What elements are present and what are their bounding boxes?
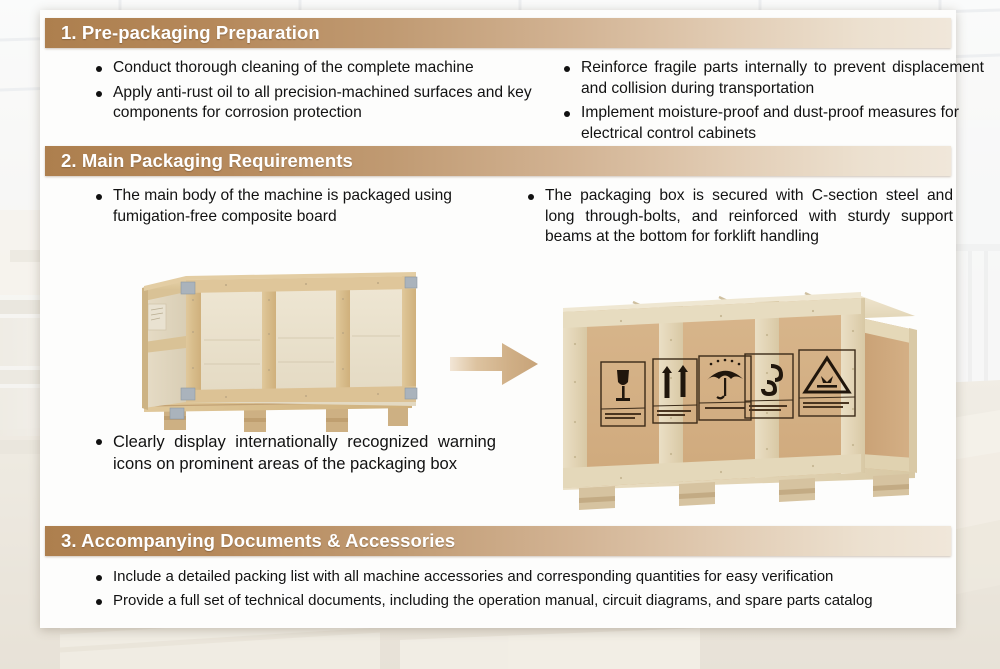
bullet-list-section2-left: The main body of the machine is packaged… [96, 186, 496, 231]
list-item: Provide a full set of technical document… [96, 591, 966, 611]
section-title: 3. Accompanying Documents & Accessories [45, 530, 455, 552]
section-title: 1. Pre-packaging Preparation [45, 22, 320, 44]
arrow-shape [448, 338, 540, 390]
bullet-list-section2-left-lower: Clearly display internationally recogniz… [96, 431, 496, 479]
list-item: The packaging box is secured with C-sect… [528, 186, 953, 248]
section-title: 2. Main Packaging Requirements [45, 150, 353, 172]
bullet-text: Conduct thorough cleaning of the complet… [113, 58, 474, 79]
bullet-text: Apply anti-rust oil to all precision-mac… [113, 83, 548, 124]
list-item: Implement moisture-proof and dust-proof … [564, 103, 984, 144]
list-item: Conduct thorough cleaning of the complet… [96, 58, 548, 79]
list-item: Include a detailed packing list with all… [96, 567, 966, 587]
image-crate-with-warning-labels [543, 282, 925, 522]
section-header-accompanying-documents: 3. Accompanying Documents & Accessories [45, 526, 951, 556]
bullet-dot-icon [564, 66, 570, 72]
section-header-pre-packaging: 1. Pre-packaging Preparation [45, 18, 951, 48]
bullet-text: Provide a full set of technical document… [113, 591, 873, 611]
bullet-list-section2-right: The packaging box is secured with C-sect… [528, 186, 953, 252]
bullet-text: The main body of the machine is packaged… [113, 186, 496, 227]
list-item: Reinforce fragile parts internally to pr… [564, 58, 984, 99]
bullet-text: Include a detailed packing list with all… [113, 567, 833, 587]
bullet-dot-icon [96, 439, 102, 445]
bullet-dot-icon [96, 599, 102, 605]
bullet-text: Reinforce fragile parts internally to pr… [581, 58, 984, 99]
list-item: Apply anti-rust oil to all precision-mac… [96, 83, 548, 124]
content-panel: 1. Pre-packaging Preparation Conduct tho… [40, 10, 956, 628]
image-plain-wooden-crate [126, 256, 420, 438]
plain-crate-illustration [126, 256, 420, 438]
list-item: The main body of the machine is packaged… [96, 186, 496, 227]
bullet-text: The packaging box is secured with C-sect… [545, 186, 953, 248]
bullet-dot-icon [96, 66, 102, 72]
bullet-list-section1-right: Reinforce fragile parts internally to pr… [564, 58, 984, 148]
bullet-dot-icon [96, 575, 102, 581]
bullet-dot-icon [96, 194, 102, 200]
section-header-main-packaging: 2. Main Packaging Requirements [45, 146, 951, 176]
bullet-text: Implement moisture-proof and dust-proof … [581, 103, 984, 144]
bullet-dot-icon [564, 111, 570, 117]
bullet-dot-icon [528, 194, 534, 200]
bullet-list-section3: Include a detailed packing list with all… [96, 567, 966, 615]
bullet-list-section1-left: Conduct thorough cleaning of the complet… [96, 58, 548, 128]
right-arrow-icon [448, 338, 540, 390]
labeled-crate-illustration [543, 282, 925, 522]
bullet-dot-icon [96, 91, 102, 97]
